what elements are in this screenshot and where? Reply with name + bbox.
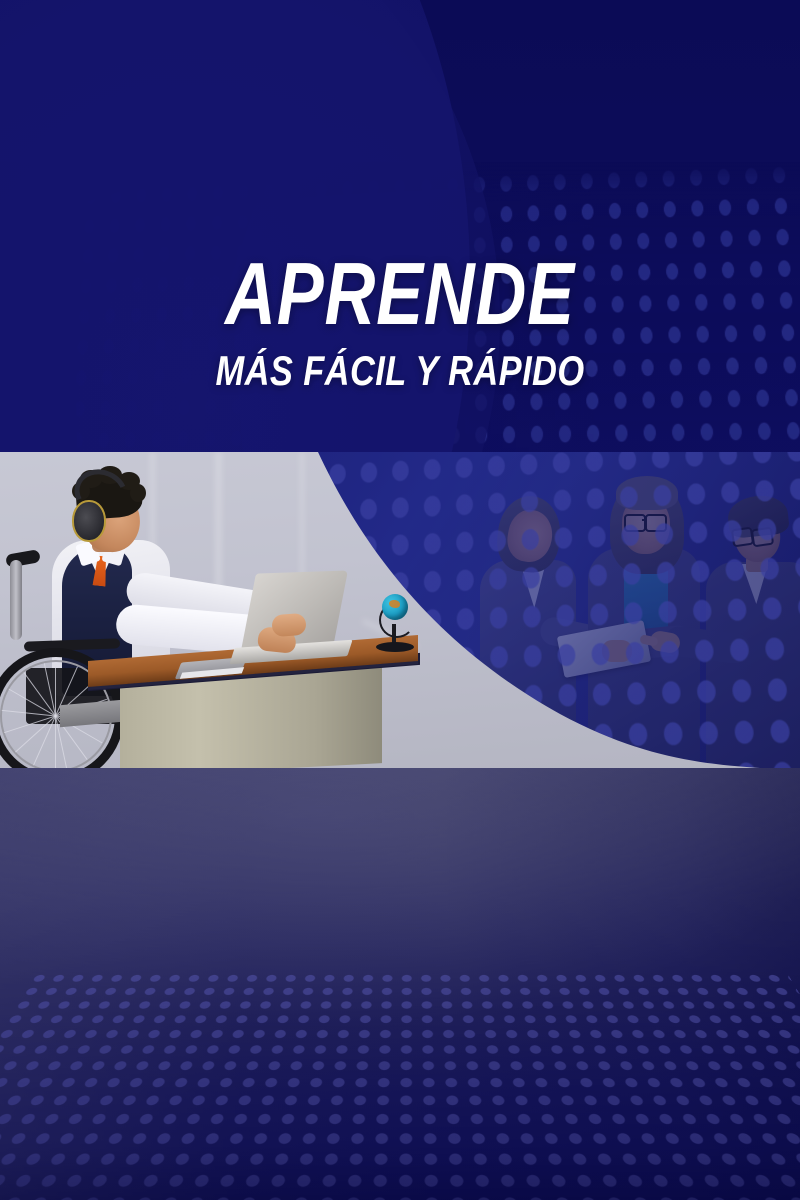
- headline-group: APRENDE MÁS FÁCIL Y RÁPIDO: [0, 252, 800, 392]
- headphones-ear-cup: [72, 500, 106, 542]
- photo-student-wheelchair-laptop: [0, 452, 800, 768]
- wheelchair-back-post: [10, 560, 22, 640]
- student-hair-curl: [130, 484, 146, 502]
- bottom-band-vignette: [0, 768, 800, 1200]
- photo-band: [0, 452, 800, 768]
- globe-landmass: [389, 600, 400, 608]
- globe-base: [376, 642, 414, 652]
- photo-curve-divider: [0, 452, 800, 768]
- student-hand-right: [271, 613, 306, 637]
- page-title: APRENDE: [80, 252, 720, 336]
- page-subtitle: MÁS FÁCIL Y RÁPIDO: [72, 350, 728, 392]
- bottom-dot-band: [0, 768, 800, 1200]
- banner-canvas: APRENDE MÁS FÁCIL Y RÁPIDO: [0, 0, 800, 1200]
